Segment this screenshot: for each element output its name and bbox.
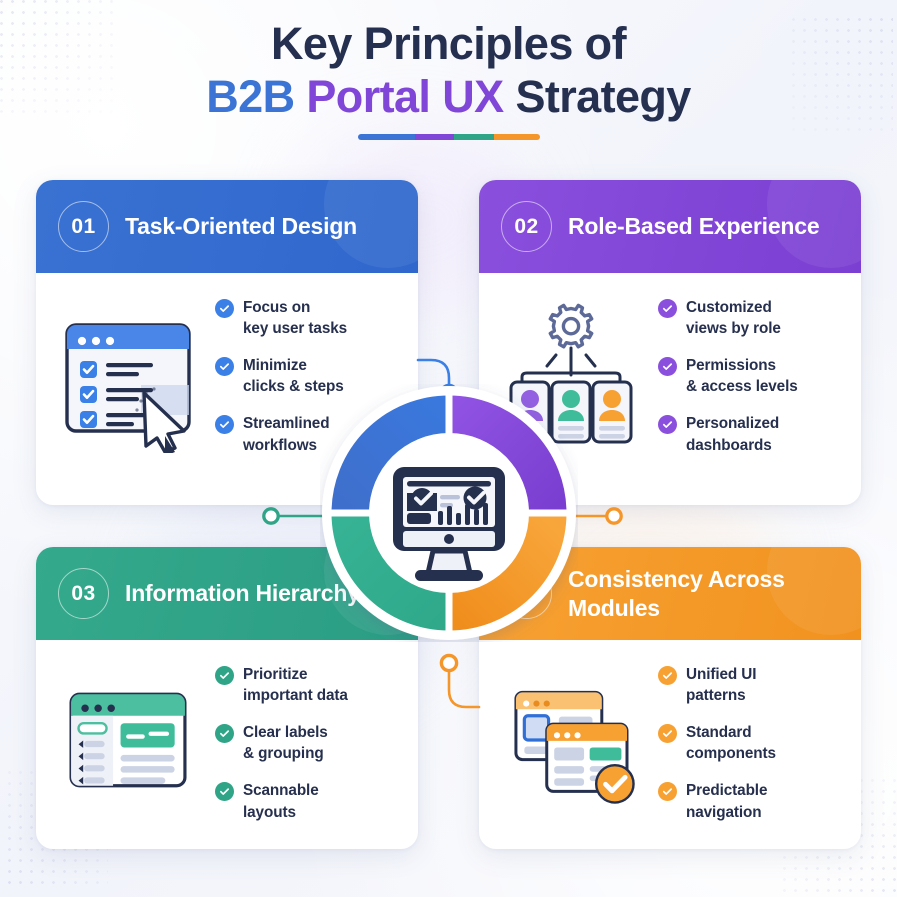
card-bullet-list: Unified UI patterns Standard components …	[658, 662, 844, 823]
bullet-line-2: key user tasks	[243, 320, 347, 337]
bullet-line-2: views by role	[686, 320, 781, 337]
bullet-line-1: Scannable	[243, 782, 319, 799]
bullet-text: Streamlined workflows	[243, 413, 329, 455]
stacked-windows-check-icon	[496, 662, 648, 815]
bullet-line-2: dashboards	[686, 437, 772, 454]
bullet-line-1: Unified UI	[686, 666, 756, 683]
bullet-line-1: Predictable	[686, 782, 767, 799]
bullet-text: Standard components	[686, 722, 776, 764]
bullet-text: Focus on key user tasks	[243, 297, 347, 339]
bullet-line-2: important data	[243, 687, 348, 704]
bullet-line-2: & grouping	[243, 745, 324, 762]
divider-segment-blue	[358, 134, 415, 140]
bullet-text: Personalized dashboards	[686, 413, 779, 455]
bullet-line-1: Minimize	[243, 357, 307, 374]
check-circle-icon	[215, 666, 234, 685]
bullet-text: Scannable layouts	[243, 780, 319, 822]
check-circle-icon	[658, 415, 677, 434]
bullet-line-2: workflows	[243, 437, 317, 454]
list-item: Standard components	[658, 722, 844, 764]
check-circle-icon	[658, 299, 677, 318]
card-bullet-list: Prioritize important data Clear labels &…	[215, 662, 401, 823]
list-item: Focus on key user tasks	[215, 297, 401, 339]
card-number-badge: 03	[58, 568, 109, 619]
title-word-strategy: Strategy	[515, 71, 690, 122]
bullet-text: Permissions & access levels	[686, 355, 798, 397]
bullet-text: Customized views by role	[686, 297, 781, 339]
title-line-2: B2B Portal UX Strategy	[0, 70, 897, 123]
divider-segment-green	[454, 134, 494, 140]
check-circle-icon	[215, 415, 234, 434]
check-circle-icon	[215, 299, 234, 318]
divider-segment-purple	[415, 134, 455, 140]
list-item: Customized views by role	[658, 297, 844, 339]
bullet-line-1: Focus on	[243, 299, 310, 316]
card-body: Unified UI patterns Standard components …	[479, 640, 861, 823]
bullet-line-2: & access levels	[686, 378, 798, 395]
list-item: Unified UI patterns	[658, 664, 844, 706]
check-circle-icon	[215, 782, 234, 801]
title-highlight-b2b: B2B	[206, 71, 294, 122]
card-number-badge: 02	[501, 201, 552, 252]
list-item: Scannable layouts	[215, 780, 401, 822]
title-space-2	[504, 71, 516, 122]
bullet-line-1: Customized	[686, 299, 772, 316]
title-line-1: Key Principles of	[0, 17, 897, 70]
card-title: Task-Oriented Design	[125, 212, 357, 240]
check-circle-icon	[215, 357, 234, 376]
list-item: Personalized dashboards	[658, 413, 844, 455]
checklist-browser-cursor-icon	[53, 295, 205, 458]
list-item: Predictable navigation	[658, 780, 844, 822]
card-bullet-list: Customized views by role Permissions & a…	[658, 295, 844, 456]
bullet-line-1: Clear labels	[243, 724, 328, 741]
list-item: Permissions & access levels	[658, 355, 844, 397]
check-circle-icon	[658, 782, 677, 801]
list-item: Clear labels & grouping	[215, 722, 401, 764]
page-title: Key Principles of B2B Portal UX Strategy	[0, 17, 897, 140]
bullet-line-2: components	[686, 745, 776, 762]
bullet-text: Clear labels & grouping	[243, 722, 328, 764]
bullet-text: Predictable navigation	[686, 780, 767, 822]
bullet-line-1: Streamlined	[243, 415, 329, 432]
bullet-text: Unified UI patterns	[686, 664, 756, 706]
bullet-line-2: patterns	[686, 687, 746, 704]
card-title: Consistency Across Modules	[568, 565, 839, 621]
bullet-line-2: layouts	[243, 804, 296, 821]
card-body: Prioritize important data Clear labels &…	[36, 640, 418, 823]
card-number-badge: 01	[58, 201, 109, 252]
check-circle-icon	[658, 724, 677, 743]
check-circle-icon	[658, 357, 677, 376]
bullet-line-1: Permissions	[686, 357, 776, 374]
card-header: 02 Role-Based Experience	[479, 180, 861, 273]
title-highlight-portal-ux: Portal UX	[306, 71, 503, 122]
divider-segment-orange	[494, 134, 540, 140]
bullet-text: Prioritize important data	[243, 664, 348, 706]
bullet-line-1: Standard	[686, 724, 752, 741]
bullet-line-2: navigation	[686, 804, 762, 821]
title-divider	[358, 134, 540, 140]
sidebar-layout-browser-icon	[53, 662, 205, 815]
check-circle-icon	[215, 724, 234, 743]
card-title: Role-Based Experience	[568, 212, 819, 240]
title-space-1	[294, 71, 306, 122]
center-hub	[320, 384, 578, 642]
card-header: 01 Task-Oriented Design	[36, 180, 418, 273]
bullet-line-1: Prioritize	[243, 666, 307, 683]
list-item: Prioritize important data	[215, 664, 401, 706]
bullet-line-1: Personalized	[686, 415, 779, 432]
check-circle-icon	[658, 666, 677, 685]
